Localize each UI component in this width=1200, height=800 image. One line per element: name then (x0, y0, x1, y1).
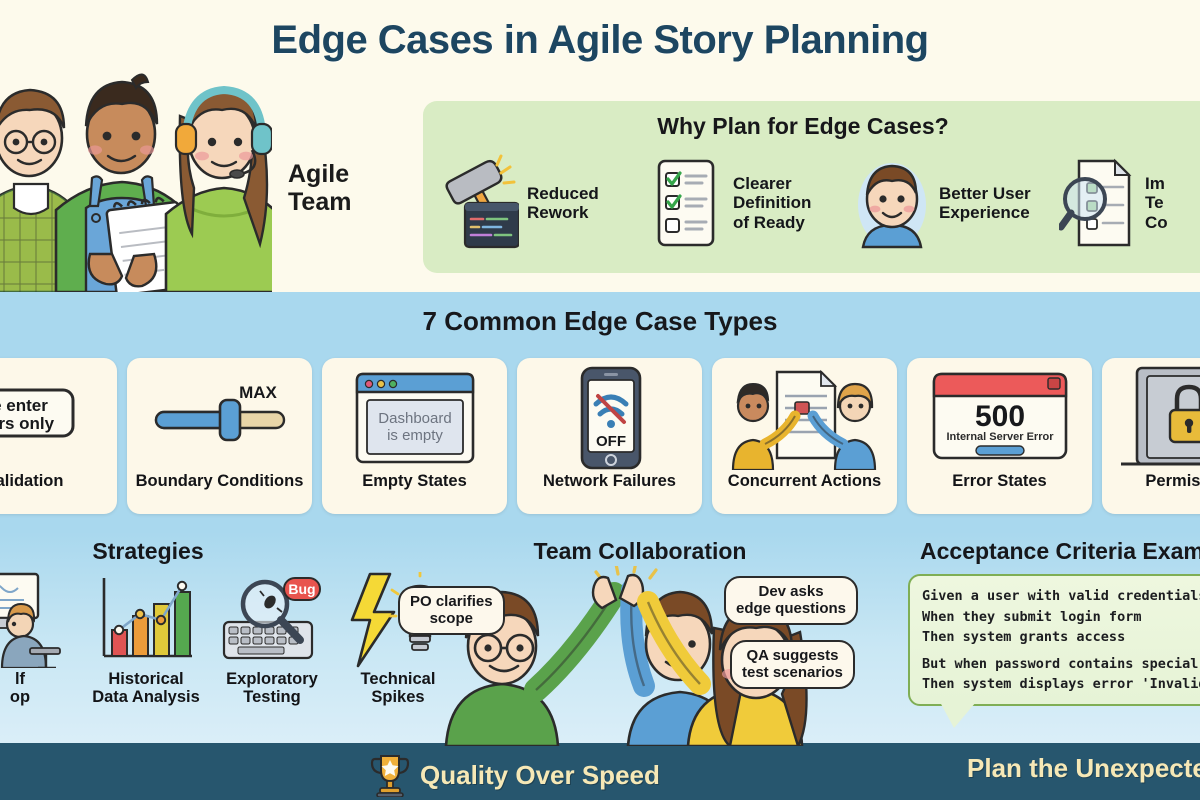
page-title: Edge Cases in Agile Story Planning (0, 18, 1200, 63)
card-label: Empty States (362, 472, 467, 491)
locked-door-icon (1115, 366, 1200, 470)
bug-badge-label: Bug (288, 581, 315, 597)
po-bubble: PO clarifies scope (398, 586, 505, 635)
strategy-label-line: Technical (361, 670, 436, 688)
server-error-window-icon: 500 Internal Server Error (920, 366, 1080, 470)
why-label-line: Reduced (527, 184, 599, 203)
why-plan-panel: Why Plan for Edge Cases? (423, 101, 1200, 273)
team-collaboration-heading: Team Collaboration (450, 538, 830, 565)
why-label-line: Te (1145, 193, 1168, 212)
card-permissions[interactable]: Permissions (1102, 358, 1200, 514)
why-item-better-user-experience: Better User Experience (853, 153, 1049, 253)
footer-left-text: Quality Over Speed (420, 760, 660, 791)
qa-bubble: QA suggests test scenarios (730, 640, 855, 689)
footer-right-text: Plan the Unexpected (967, 753, 1200, 784)
card-validation[interactable]: lease enter umbers only Validation (0, 358, 117, 514)
ac-line: Then system grants access (922, 627, 1200, 648)
edge-case-cards-row: lease enter umbers only Validation MAX B… (0, 358, 1200, 514)
why-plan-title: Why Plan for Edge Cases? (423, 113, 1183, 140)
why-label-line: Better User (939, 184, 1031, 203)
validation-art-line2: umbers only (0, 414, 54, 433)
footer-right-group: Plan the Unexpected (967, 753, 1200, 784)
ac-line: Then system displays error 'Invalid char… (922, 674, 1200, 695)
strategies-row: lf op (0, 572, 454, 706)
agile-team-illustration (0, 58, 272, 292)
why-label-line: Definition (733, 193, 811, 212)
strategy-label-line: lf (10, 670, 30, 688)
ac-line: But when password contains special chara… (922, 654, 1200, 675)
card-error-states[interactable]: 500 Internal Server Error Error States (907, 358, 1092, 514)
strategies-heading: Strategies (38, 538, 258, 565)
card-label: Concurrent Actions (728, 472, 881, 491)
strategy-label: Technical Spikes (361, 670, 436, 706)
strategy-label-line: Exploratory (226, 670, 318, 688)
error-code: 500 (974, 400, 1024, 433)
strategy-exploratory-testing[interactable]: Bug Exploratory Testing (216, 572, 328, 706)
why-item-label: Better User Experience (939, 184, 1031, 222)
hammer-code-icon (441, 153, 519, 253)
magnifier-document-icon (1059, 153, 1137, 253)
card-empty-states[interactable]: Dashboard is empty Empty States (322, 358, 507, 514)
ac-line: When they submit login form (922, 607, 1200, 628)
card-boundary-conditions[interactable]: MAX Boundary Conditions (127, 358, 312, 514)
bar-chart-trend-icon (94, 572, 198, 668)
why-item-definition-of-ready: Clearer Definition of Ready (647, 153, 843, 253)
why-label-line: Im (1145, 174, 1168, 193)
why-item-label: Reduced Rework (527, 184, 599, 222)
agile-team-label: Agile Team (288, 160, 408, 216)
why-item-label: Clearer Definition of Ready (733, 174, 811, 231)
strategy-label-line: op (10, 688, 30, 706)
empty-state-line2: is empty (387, 427, 443, 444)
two-people-document-icon (725, 366, 885, 470)
strategy-label-line: Testing (226, 688, 318, 706)
person-at-whiteboard-icon (0, 572, 72, 668)
strategy-label-line: Data Analysis (92, 688, 200, 706)
validation-art-line1: lease enter (0, 396, 48, 415)
footer-left-group: Quality Over Speed (370, 753, 660, 797)
strategy-label-line: Spikes (361, 688, 436, 706)
empty-dashboard-window-icon: Dashboard is empty (335, 366, 495, 470)
card-network-failures[interactable]: OFF Network Failures (517, 358, 702, 514)
why-item-reduced-rework: Reduced Rework (441, 153, 637, 253)
checklist-icon (647, 153, 725, 253)
strategy-label: Historical Data Analysis (92, 670, 200, 706)
agile-team-label-line2: Team (288, 188, 408, 216)
strategy-historical-data-analysis[interactable]: Historical Data Analysis (90, 572, 202, 706)
card-concurrent-actions[interactable]: Concurrent Actions (712, 358, 897, 514)
wifi-off-label: OFF (596, 433, 626, 450)
why-label-line: Clearer (733, 174, 811, 193)
acceptance-criteria-heading: Acceptance Criteria Examples (920, 538, 1200, 565)
error-message: Internal Server Error (946, 431, 1054, 443)
phone-wifi-off-icon: OFF (530, 366, 690, 470)
acceptance-criteria-box: Given a user with valid credentials When… (908, 574, 1200, 706)
strategy-what-if-workshop[interactable]: lf op (0, 572, 76, 706)
strategy-label: lf op (10, 670, 30, 706)
card-label: Validation (0, 472, 63, 491)
why-item-label: Im Te Co (1145, 174, 1168, 231)
empty-state-line1: Dashboard (378, 410, 451, 427)
dev-bubble: Dev asks edge questions (724, 576, 858, 625)
why-plan-items: Reduced Rework (441, 153, 1200, 253)
edge-case-types-heading: 7 Common Edge Case Types (0, 306, 1200, 337)
strategy-label-line: Historical (92, 670, 200, 688)
slider-max-icon: MAX (140, 366, 300, 470)
slider-max-label: MAX (239, 383, 277, 402)
acceptance-criteria-bubble-tail (940, 702, 976, 728)
happy-user-icon (853, 153, 931, 253)
magnifier-keyboard-bug-icon: Bug (220, 572, 324, 668)
card-label: Permissions (1145, 472, 1200, 491)
why-label-line: Co (1145, 213, 1168, 232)
ac-line: Given a user with valid credentials (922, 586, 1200, 607)
card-label: Error States (952, 472, 1046, 491)
strategy-label: Exploratory Testing (226, 670, 318, 706)
validation-tooltip-icon: lease enter umbers only (0, 366, 105, 470)
why-label-line: of Ready (733, 213, 811, 232)
card-label: Network Failures (543, 472, 676, 491)
card-label: Boundary Conditions (136, 472, 304, 491)
why-label-line: Experience (939, 203, 1031, 222)
infographic-canvas: Edge Cases in Agile Story Planning (0, 0, 1200, 800)
why-label-line: Rework (527, 203, 599, 222)
why-item-improved-test-coverage: Im Te Co (1059, 153, 1200, 253)
agile-team-label-line1: Agile (288, 160, 408, 188)
trophy-icon (370, 753, 410, 797)
